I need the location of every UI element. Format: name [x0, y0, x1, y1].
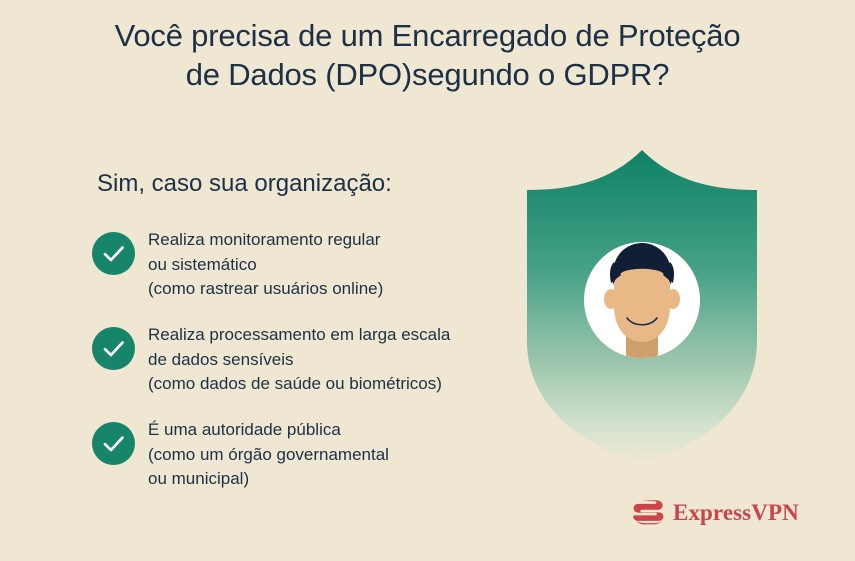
expressvpn-logo[interactable]: ExpressVPN [633, 494, 799, 530]
list-item-line: (como rastrear usuários online) [148, 277, 548, 302]
list-item-line: (como dados de saúde ou biométricos) [148, 372, 548, 397]
list-item-line: de dados sensíveis [148, 348, 548, 373]
logo-text: ExpressVPN [673, 501, 799, 524]
check-icon [92, 422, 135, 465]
infographic-canvas: Você precisa de um Encarregado de Proteç… [0, 0, 855, 561]
list-item-text: Realiza processamento em larga escala de… [148, 323, 548, 397]
check-icon [92, 232, 135, 275]
list-item-text: É uma autoridade pública (como um órgão … [148, 418, 548, 492]
subheading: Sim, caso sua organização: [97, 169, 392, 199]
title-line-2: de Dados (DPO)segundo o GDPR? [0, 55, 855, 94]
check-icon [92, 327, 135, 370]
list-item-line: (como um órgão governamental [148, 443, 548, 468]
title-line-1: Você precisa de um Encarregado de Proteç… [0, 16, 855, 55]
page-title: Você precisa de um Encarregado de Proteç… [0, 16, 855, 94]
list-item-line: Realiza processamento em larga escala [148, 323, 548, 348]
expressvpn-logo-icon [633, 499, 664, 526]
list-item-line: Realiza monitoramento regular [148, 228, 548, 253]
list-item-line: É uma autoridade pública [148, 418, 548, 443]
list-item-text: Realiza monitoramento regular ou sistemá… [148, 228, 548, 302]
shield-illustration [497, 143, 789, 465]
list-item-line: ou sistemático [148, 253, 548, 278]
list-item-line: ou municipal) [148, 467, 548, 492]
